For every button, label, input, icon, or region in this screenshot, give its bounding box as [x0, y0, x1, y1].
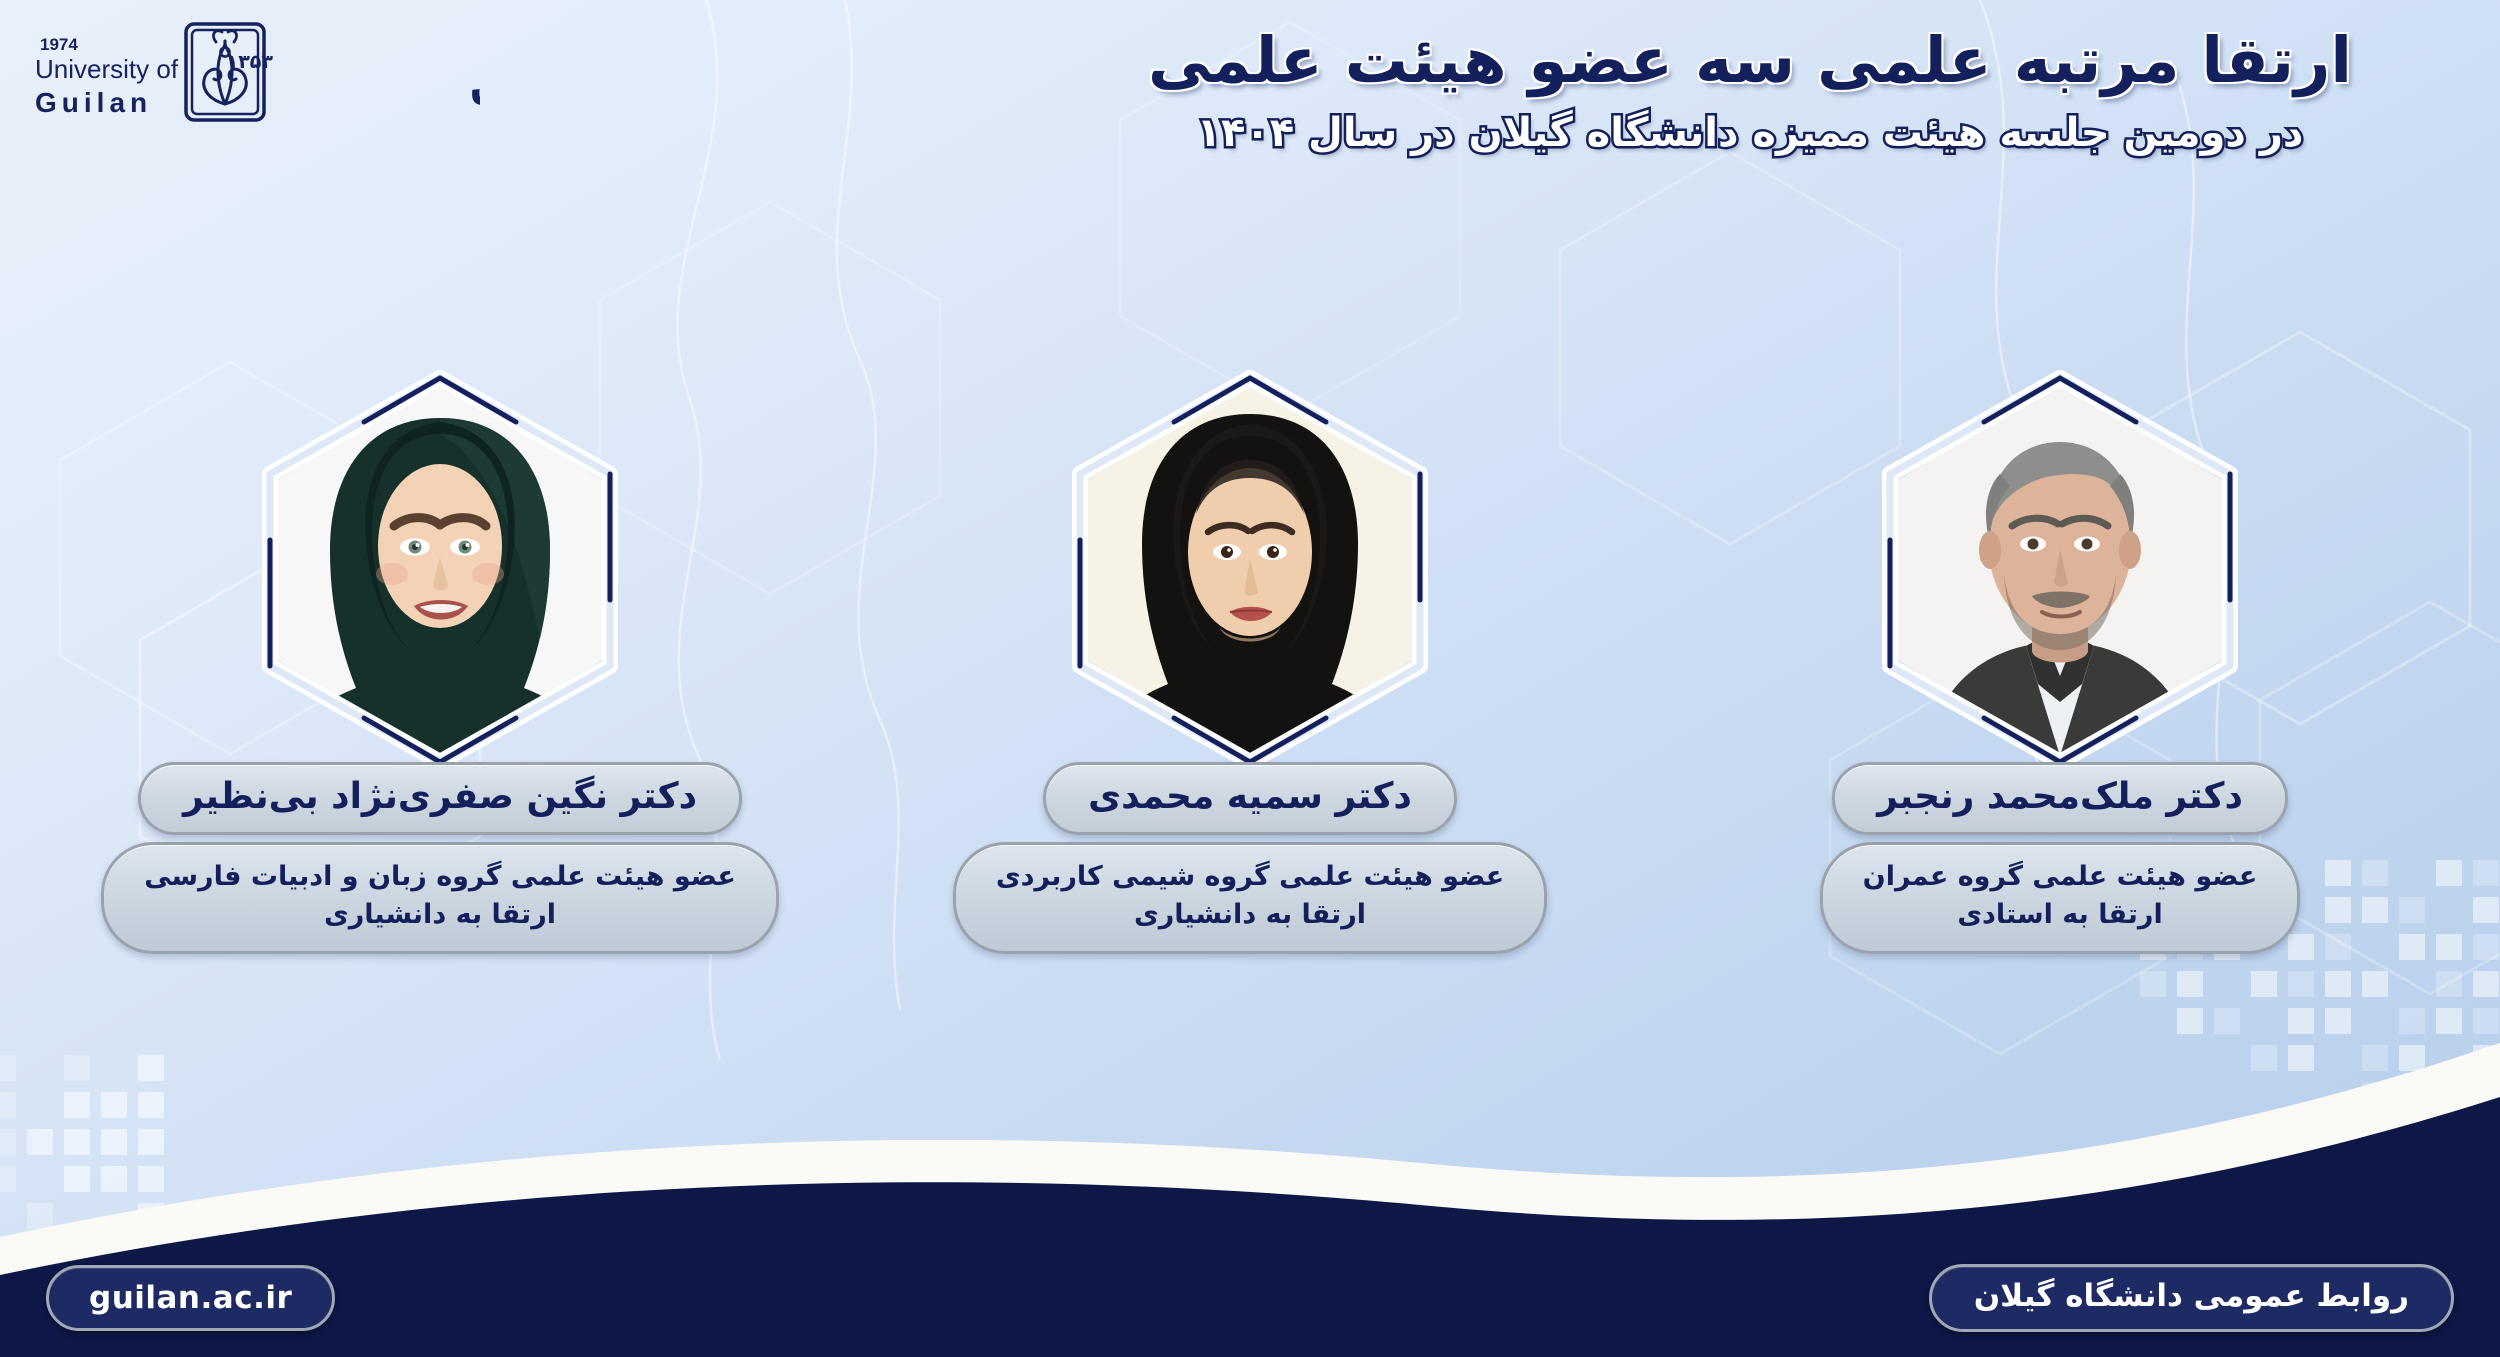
- website-link[interactable]: guilan.ac.ir: [46, 1265, 335, 1331]
- faculty-card: دکتر سمیه محمدی عضو هیئت علمی گروه شیمی …: [900, 370, 1600, 954]
- faculty-card: دکتر ملک‌محمد رنجبر عضو هیئت علمی گروه ع…: [1710, 370, 2410, 954]
- faculty-name: دکتر نگین صفری‌نژاد بی‌نظیر: [138, 762, 742, 835]
- decor-square: [64, 1203, 90, 1229]
- decor-square: [27, 1129, 53, 1155]
- decor-square: [138, 1203, 164, 1229]
- decor-square: [0, 1092, 16, 1118]
- decor-square: [101, 1092, 127, 1118]
- page-subtitle: در دومین جلسه هیئت ممیزه دانشگاه گیلان د…: [1040, 109, 2460, 157]
- decor-square: [2362, 1082, 2388, 1108]
- decor-square: [27, 1166, 53, 1192]
- decor-square: [2288, 1082, 2314, 1108]
- decor-square: [101, 1129, 127, 1155]
- photo-frame: [1054, 370, 1446, 770]
- decor-square: [2436, 1082, 2462, 1108]
- decor-square: [0, 1129, 16, 1155]
- faculty-role: عضو هیئت علمی گروه زبان و ادبیات فارسی ا…: [101, 842, 779, 954]
- decor-square: [138, 1166, 164, 1192]
- faculty-members-row: دکتر ملک‌محمد رنجبر عضو هیئت علمی گروه ع…: [0, 370, 2500, 1050]
- decor-square: [0, 1203, 16, 1229]
- faculty-name: دکتر ملک‌محمد رنجبر: [1832, 762, 2288, 835]
- logo-year-persian: ۱۳۵۳: [227, 51, 274, 73]
- photo-frame: [1864, 370, 2256, 770]
- decor-square: [64, 1166, 90, 1192]
- decor-square: [27, 1092, 53, 1118]
- page-title: ارتقا مرتبه علمی سه عضو هیئت علمی: [1040, 26, 2460, 97]
- faculty-promotion: ارتقا به دانشیاری: [144, 896, 736, 934]
- logo-year-latin: 1974: [40, 35, 78, 54]
- decor-square: [101, 1166, 127, 1192]
- decor-square: [101, 1203, 127, 1229]
- decor-square: [138, 1055, 164, 1081]
- faculty-department: عضو هیئت علمی گروه زبان و ادبیات فارسی: [144, 858, 736, 896]
- decorative-squares-left: [0, 1055, 164, 1229]
- decor-square: [0, 1055, 16, 1081]
- decor-square: [2214, 1082, 2240, 1108]
- decor-square: [2325, 1082, 2351, 1108]
- poster-canvas: 1974 University of Guilan ۱۳۵۳ دانشگاه گ…: [0, 0, 2500, 1357]
- decor-square: [2140, 1082, 2166, 1108]
- svg-text:University of: University of: [35, 54, 179, 84]
- footer-bar: روابط عمومی دانشگاه گیلان guilan.ac.ir: [0, 1239, 2500, 1357]
- faculty-department: عضو هیئت علمی گروه عمران: [1863, 858, 2258, 896]
- portrait-photo: [1886, 384, 2234, 756]
- faculty-promotion: ارتقا به دانشیاری: [996, 896, 1504, 934]
- decor-square: [64, 1055, 90, 1081]
- title-block: ارتقا مرتبه علمی سه عضو هیئت علمی در دوم…: [1040, 26, 2460, 157]
- portrait-photo: [1076, 384, 1424, 756]
- faculty-name: دکتر سمیه محمدی: [1043, 762, 1457, 835]
- university-logo: 1974 University of Guilan ۱۳۵۳ دانشگاه گ…: [30, 8, 480, 133]
- decor-square: [138, 1092, 164, 1118]
- decor-square: [64, 1129, 90, 1155]
- decor-square: [0, 1166, 16, 1192]
- svg-text:Guilan: Guilan: [35, 87, 152, 118]
- decor-square: [2251, 1082, 2277, 1108]
- decor-square: [2473, 1082, 2499, 1108]
- faculty-card: دکتر نگین صفری‌نژاد بی‌نظیر عضو هیئت علم…: [90, 370, 790, 954]
- decor-square: [2177, 1082, 2203, 1108]
- decor-square: [2399, 1082, 2425, 1108]
- public-relations-badge: روابط عمومی دانشگاه گیلان: [1929, 1264, 2454, 1332]
- decor-square: [138, 1129, 164, 1155]
- faculty-department: عضو هیئت علمی گروه شیمی کاربردی: [996, 858, 1504, 896]
- decor-square: [27, 1055, 53, 1081]
- portrait-photo: [266, 384, 614, 756]
- decor-square: [27, 1203, 53, 1229]
- decor-square: [64, 1092, 90, 1118]
- faculty-role: عضو هیئت علمی گروه عمران ارتقا به استادی: [1820, 842, 2301, 954]
- photo-frame: [244, 370, 636, 770]
- logo-name-fa: دانشگاه گیلان: [466, 32, 480, 110]
- faculty-promotion: ارتقا به استادی: [1863, 896, 2258, 934]
- faculty-role: عضو هیئت علمی گروه شیمی کاربردی ارتقا به…: [953, 842, 1547, 954]
- decor-square: [101, 1055, 127, 1081]
